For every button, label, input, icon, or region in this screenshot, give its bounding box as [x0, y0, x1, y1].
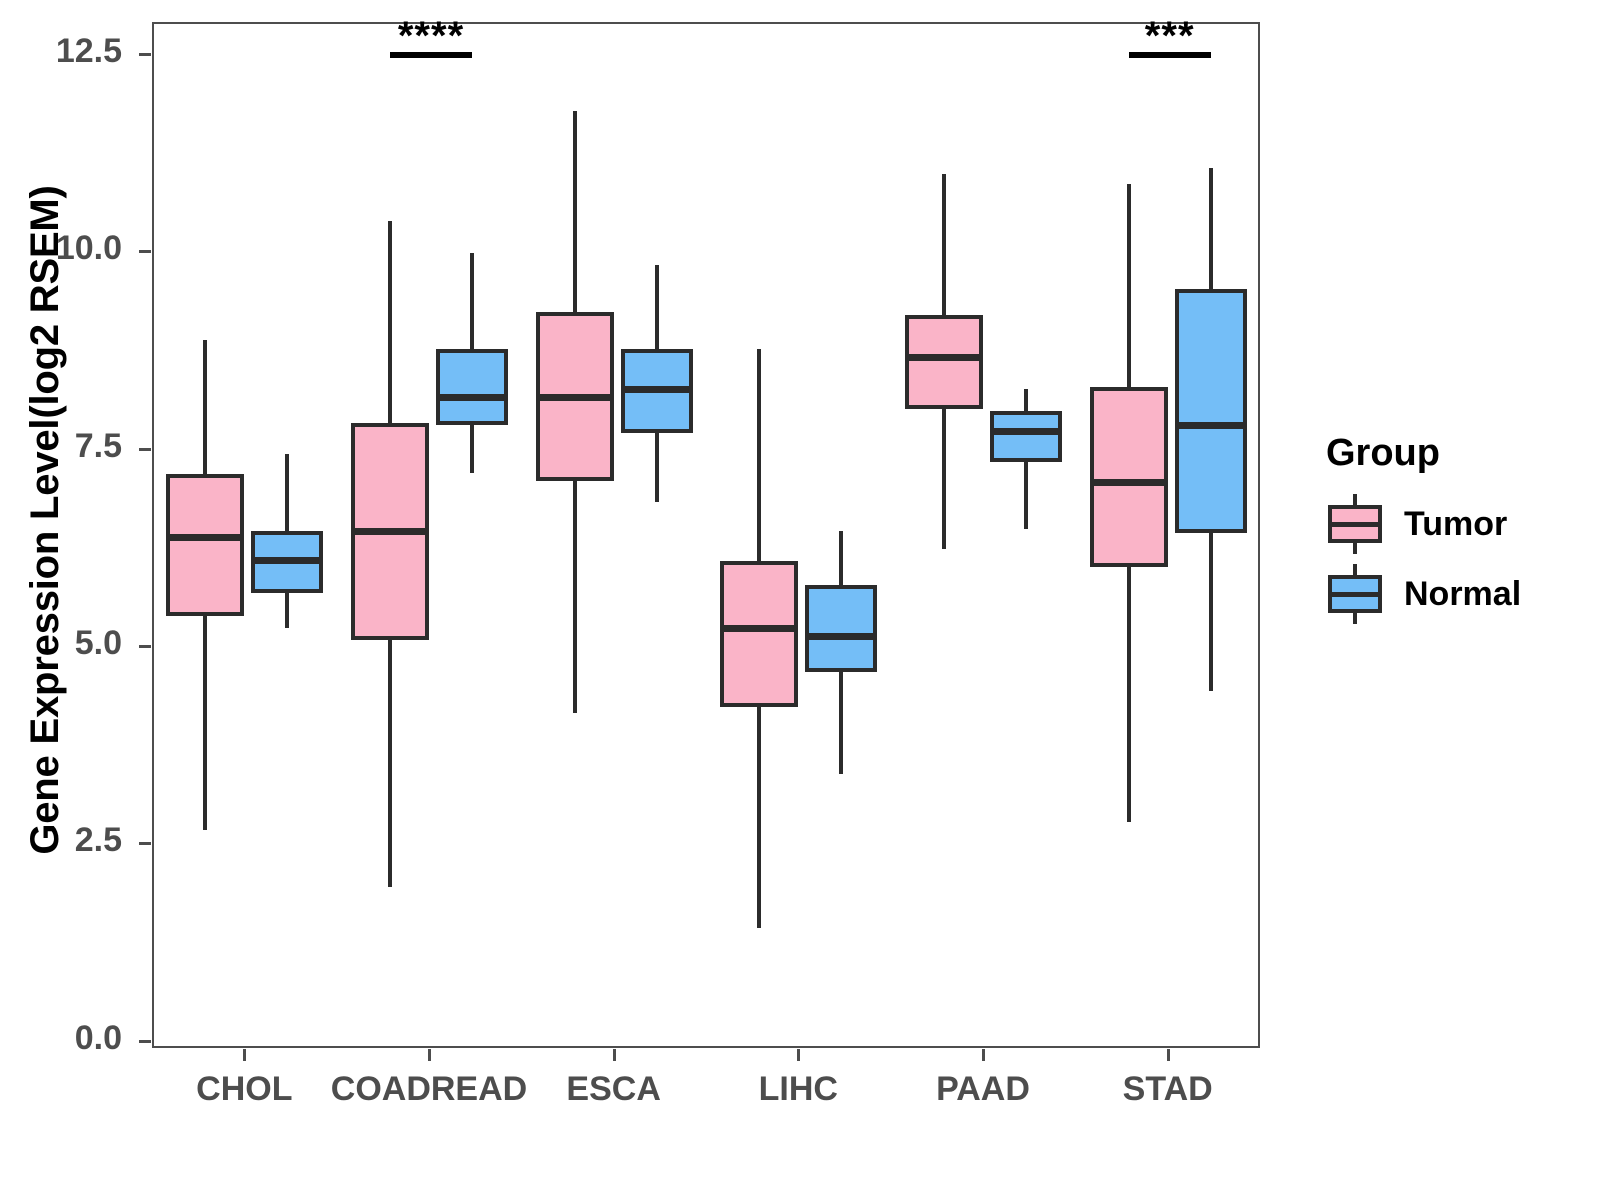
legend-items: TumorNormal — [1318, 491, 1588, 627]
x-tick-mark — [428, 1049, 431, 1061]
legend: Group TumorNormal — [1318, 432, 1588, 631]
significance-stars-stad: *** — [1145, 16, 1195, 56]
y-axis-title: Gene Expression Level(log2 RSEM) — [14, 0, 76, 1040]
x-tick-label-lihc: LIHC — [759, 1070, 838, 1109]
boxplot-stad-tumor-median — [1090, 479, 1168, 486]
boxplot-esca-normal-median — [621, 386, 693, 393]
y-tick-label: 5.0 — [0, 624, 122, 663]
boxplot-chol-tumor-median — [166, 534, 244, 541]
y-tick-label: 7.5 — [0, 427, 122, 466]
x-tick-mark — [613, 1049, 616, 1061]
boxplot-stad-normal-median — [1175, 422, 1247, 429]
y-tick-label: 0.0 — [0, 1019, 122, 1058]
chart-root: Gene Expression Level(log2 RSEM) 0.02.55… — [0, 0, 1600, 1200]
legend-key-median — [1328, 592, 1382, 597]
legend-key-normal — [1328, 564, 1382, 624]
x-tick-label-coadread: COADREAD — [331, 1070, 527, 1109]
boxplot-lihc-normal-median — [805, 633, 877, 640]
legend-label-tumor: Tumor — [1404, 505, 1507, 544]
x-tick-mark — [1167, 1049, 1170, 1061]
boxplot-lihc-normal-box — [805, 585, 877, 672]
x-tick-label-chol: CHOL — [196, 1070, 292, 1109]
x-tick-label-esca: ESCA — [566, 1070, 660, 1109]
x-tick-label-paad: PAAD — [936, 1070, 1030, 1109]
x-tick-mark — [243, 1049, 246, 1061]
boxplot-lihc-tumor-median — [720, 625, 798, 632]
boxplot-paad-tumor-box — [905, 315, 983, 410]
plot-panel: ******* — [152, 22, 1260, 1048]
y-tick-mark — [139, 1040, 151, 1043]
y-tick-mark — [139, 842, 151, 845]
y-tick-mark — [139, 250, 151, 253]
boxplot-chol-normal-median — [251, 557, 323, 564]
boxplot-paad-normal-median — [990, 428, 1062, 435]
y-tick-mark — [139, 448, 151, 451]
boxplot-coadread-normal-box — [436, 349, 508, 425]
x-tick-mark — [982, 1049, 985, 1061]
legend-item-tumor[interactable]: Tumor — [1318, 491, 1588, 557]
y-tick-label: 2.5 — [0, 821, 122, 860]
boxplot-paad-normal-box — [990, 411, 1062, 462]
boxplot-coadread-tumor-median — [351, 528, 429, 535]
y-tick-mark — [139, 53, 151, 56]
legend-label-normal: Normal — [1404, 575, 1521, 614]
boxplot-chol-tumor-box — [166, 474, 244, 616]
boxplot-esca-tumor-median — [536, 394, 614, 401]
legend-title: Group — [1326, 432, 1588, 475]
boxplot-stad-normal-box — [1175, 289, 1247, 534]
legend-item-normal[interactable]: Normal — [1318, 561, 1588, 627]
boxplot-lihc-tumor-box — [720, 561, 798, 707]
boxplot-stad-tumor-box — [1090, 387, 1168, 567]
legend-key-tumor — [1328, 494, 1382, 554]
plot-area: ******* — [154, 24, 1258, 1046]
y-tick-label: 10.0 — [0, 229, 122, 268]
y-tick-label: 12.5 — [0, 32, 122, 71]
boxplot-paad-tumor-median — [905, 354, 983, 361]
significance-stars-coadread: **** — [398, 16, 464, 56]
boxplot-coadread-normal-median — [436, 394, 508, 401]
legend-key-median — [1328, 522, 1382, 527]
x-tick-label-stad: STAD — [1123, 1070, 1213, 1109]
x-tick-mark — [797, 1049, 800, 1061]
y-tick-mark — [139, 645, 151, 648]
